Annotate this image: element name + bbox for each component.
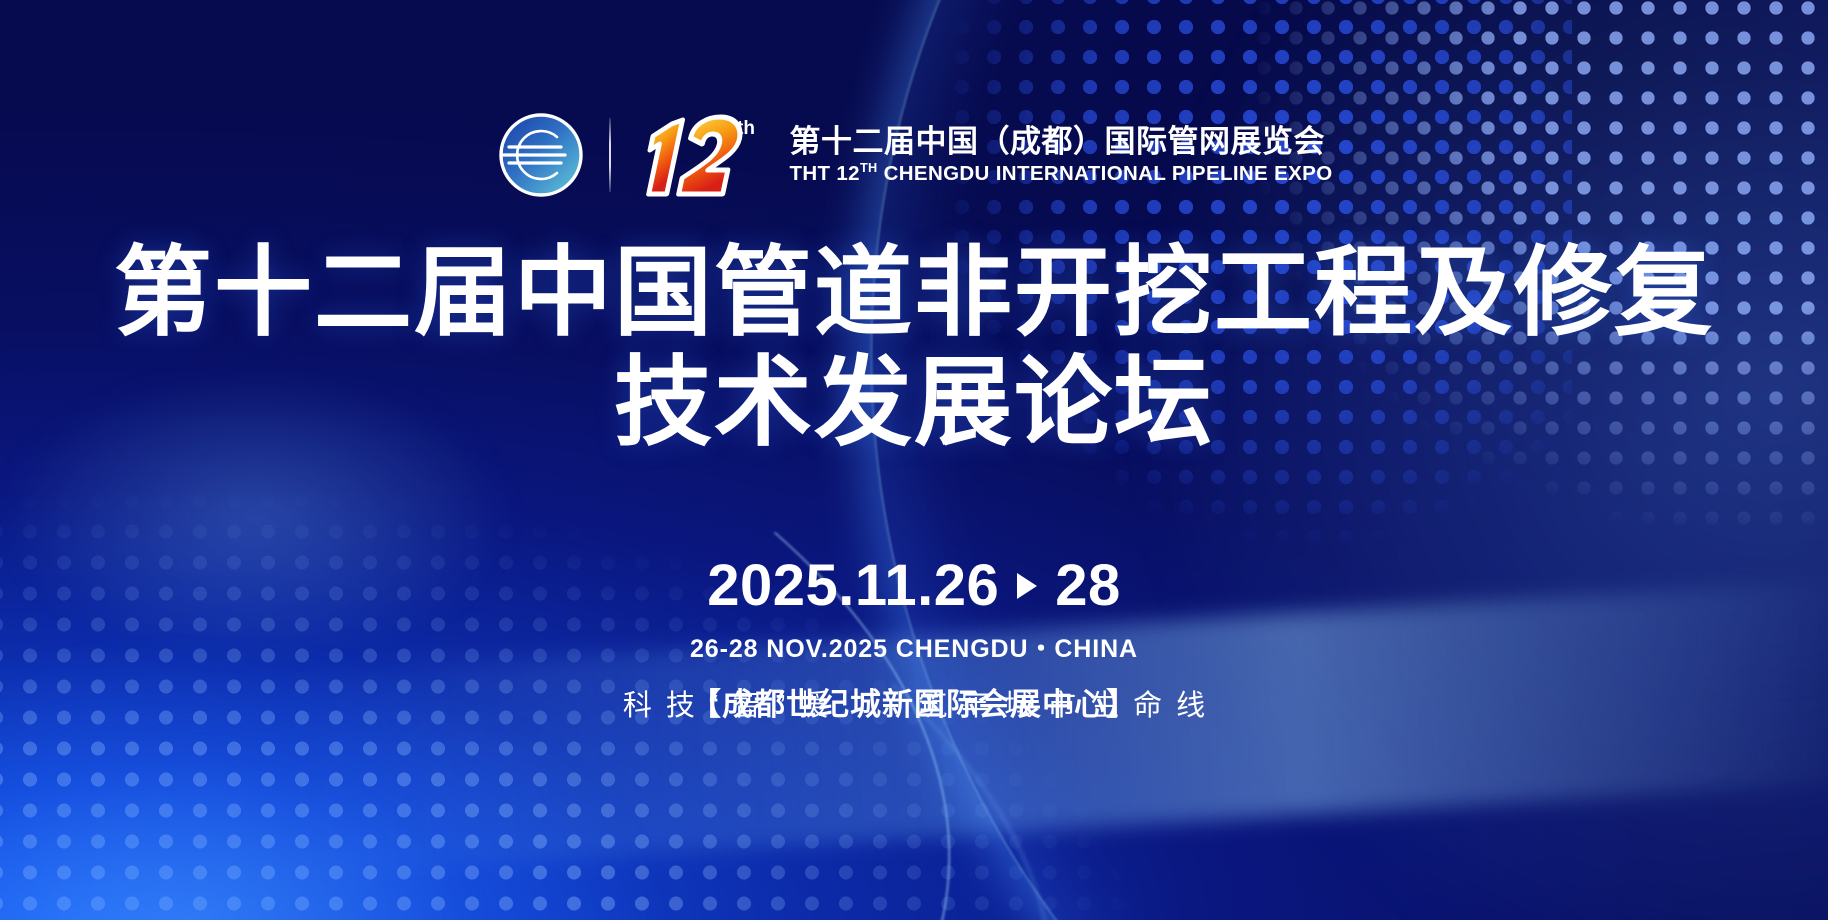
- expo-title-en-rest: CHENGDU INTERNATIONAL PIPELINE EXPO: [878, 162, 1333, 185]
- banner-content: th 第十二届中国（成都）国际管网展览会 THT 12TH CHENGDU IN…: [0, 0, 1828, 920]
- expo-title-en-prefix: THT 12: [789, 162, 859, 185]
- triangle-right-icon: [1017, 573, 1037, 599]
- event-date-start: 2025.11.26: [707, 557, 999, 615]
- expo-title-en-ordinal: TH: [860, 160, 878, 175]
- event-date-row: 2025.11.26 28: [707, 557, 1121, 615]
- edition-numeral-12th: th: [633, 108, 765, 202]
- vertical-divider-icon: [609, 118, 611, 192]
- event-slogan: 科技“智”援 筑牢城市生命线: [0, 682, 1828, 724]
- event-banner: th 第十二届中国（成都）国际管网展览会 THT 12TH CHENGDU IN…: [0, 0, 1828, 920]
- expo-logo-lockup: th 第十二届中国（成都）国际管网展览会 THT 12TH CHENGDU IN…: [495, 108, 1332, 202]
- expo-title-block: 第十二届中国（成都）国际管网展览会 THT 12TH CHENGDU INTER…: [789, 126, 1332, 185]
- forum-headline-line-2: 技术发展论坛: [114, 348, 1714, 458]
- expo-title-cn: 第十二届中国（成都）国际管网展览会: [789, 126, 1332, 159]
- event-date-end: 28: [1055, 557, 1121, 615]
- slogan-part-2: 筑牢城市生命线: [904, 682, 1219, 724]
- event-date-english: 26-28 NOV.2025 CHENGDU・CHINA: [690, 629, 1138, 665]
- slogan-part-1: 科技“智”援: [609, 682, 842, 724]
- expo-title-en: THT 12TH CHENGDU INTERNATIONAL PIPELINE …: [789, 161, 1332, 184]
- pipeline-circle-emblem-icon: [495, 109, 587, 201]
- forum-headline-line-1: 第十二届中国管道非开挖工程及修复: [114, 238, 1714, 348]
- svg-text:th: th: [737, 118, 755, 139]
- forum-headline: 第十二届中国管道非开挖工程及修复 技术发展论坛: [114, 238, 1714, 458]
